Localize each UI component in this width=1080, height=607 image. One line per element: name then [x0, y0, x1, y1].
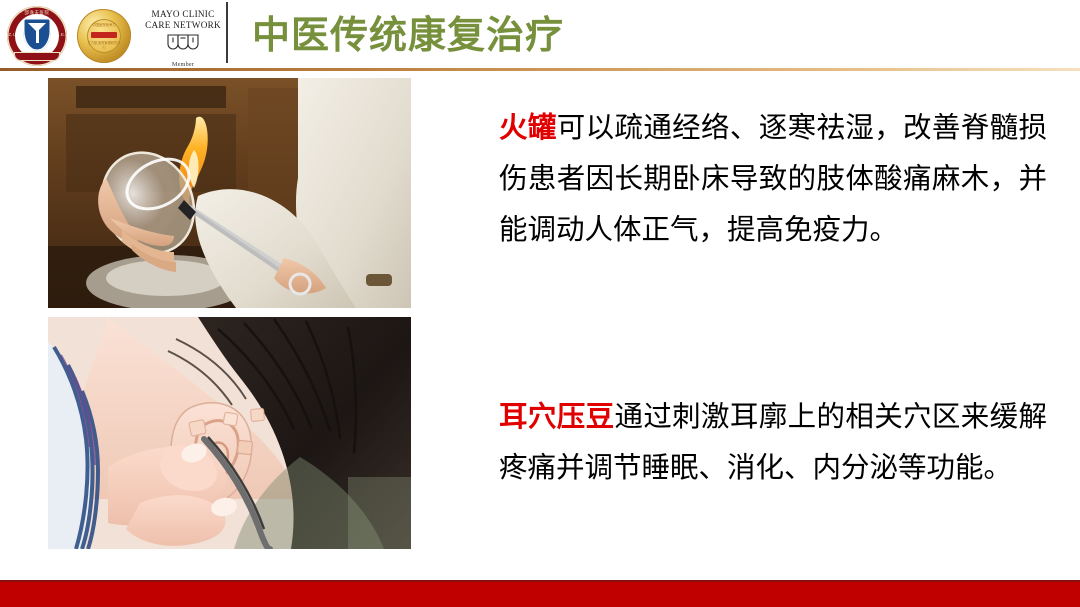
paragraph-cupping-body: 可以疏通经络、逐寒祛湿，改善脊髓损伤患者因长期卧床导致的肢体酸痛麻木，并能调动人… [499, 112, 1047, 246]
page-title: 中医传统康复治疗 [252, 14, 564, 58]
paragraph-ear-acupressure: 耳穴压豆通过刺激耳廓上的相关穴区来缓解疼痛并调节睡眠、消化、内分泌等功能。 [499, 392, 1047, 494]
header-gradient-rule [0, 68, 1080, 71]
photo-fire-cupping-image [48, 78, 411, 308]
paragraph-ear-acupressure-keyword: 耳穴压豆 [499, 401, 614, 433]
crest-banner [14, 52, 60, 61]
medal-bottom-text: 艾力彼 医院管理研究中心 [87, 41, 121, 49]
medal-red-plate [91, 32, 117, 38]
mayo-clinic-care-network-logo: MAYO CLINIC CARE NETWORK Member [140, 5, 226, 67]
medal-arc-text: 中国医院竞争力 [87, 22, 121, 27]
mayo-title-text: MAYO CLINIC CARE NETWORK [140, 9, 226, 31]
paragraph-cupping-keyword: 火罐 [499, 112, 557, 144]
slide-canvas: · 邵逸夫医院 · Z.U.M. S.A.E. 1994 中国医院竞争力 艾力彼… [0, 0, 1080, 607]
photo-fire-cupping [48, 78, 411, 308]
photo-ear-acupressure-image [48, 317, 411, 549]
mayo-member-label: Member [140, 61, 226, 68]
gold-medal-icon: 中国医院竞争力 艾力彼 医院管理研究中心 [74, 7, 134, 65]
header-vertical-divider [226, 2, 228, 63]
slide-header: · 邵逸夫医院 · Z.U.M. S.A.E. 1994 中国医院竞争力 艾力彼… [0, 0, 1080, 72]
mayo-three-shields-icon [166, 33, 200, 54]
paragraph-cupping: 火罐可以疏通经络、逐寒祛湿，改善脊髓损伤患者因长期卧床导致的肢体酸痛麻木，并能调… [499, 103, 1047, 256]
logo-strip: · 邵逸夫医院 · Z.U.M. S.A.E. 1994 中国医院竞争力 艾力彼… [6, 2, 226, 70]
photo-ear-acupressure [48, 317, 411, 549]
crest-year-text: 1994 [6, 45, 68, 50]
hospital-crest-icon: · 邵逸夫医院 · Z.U.M. S.A.E. 1994 [6, 5, 68, 67]
footer-accent-bar [0, 582, 1080, 607]
